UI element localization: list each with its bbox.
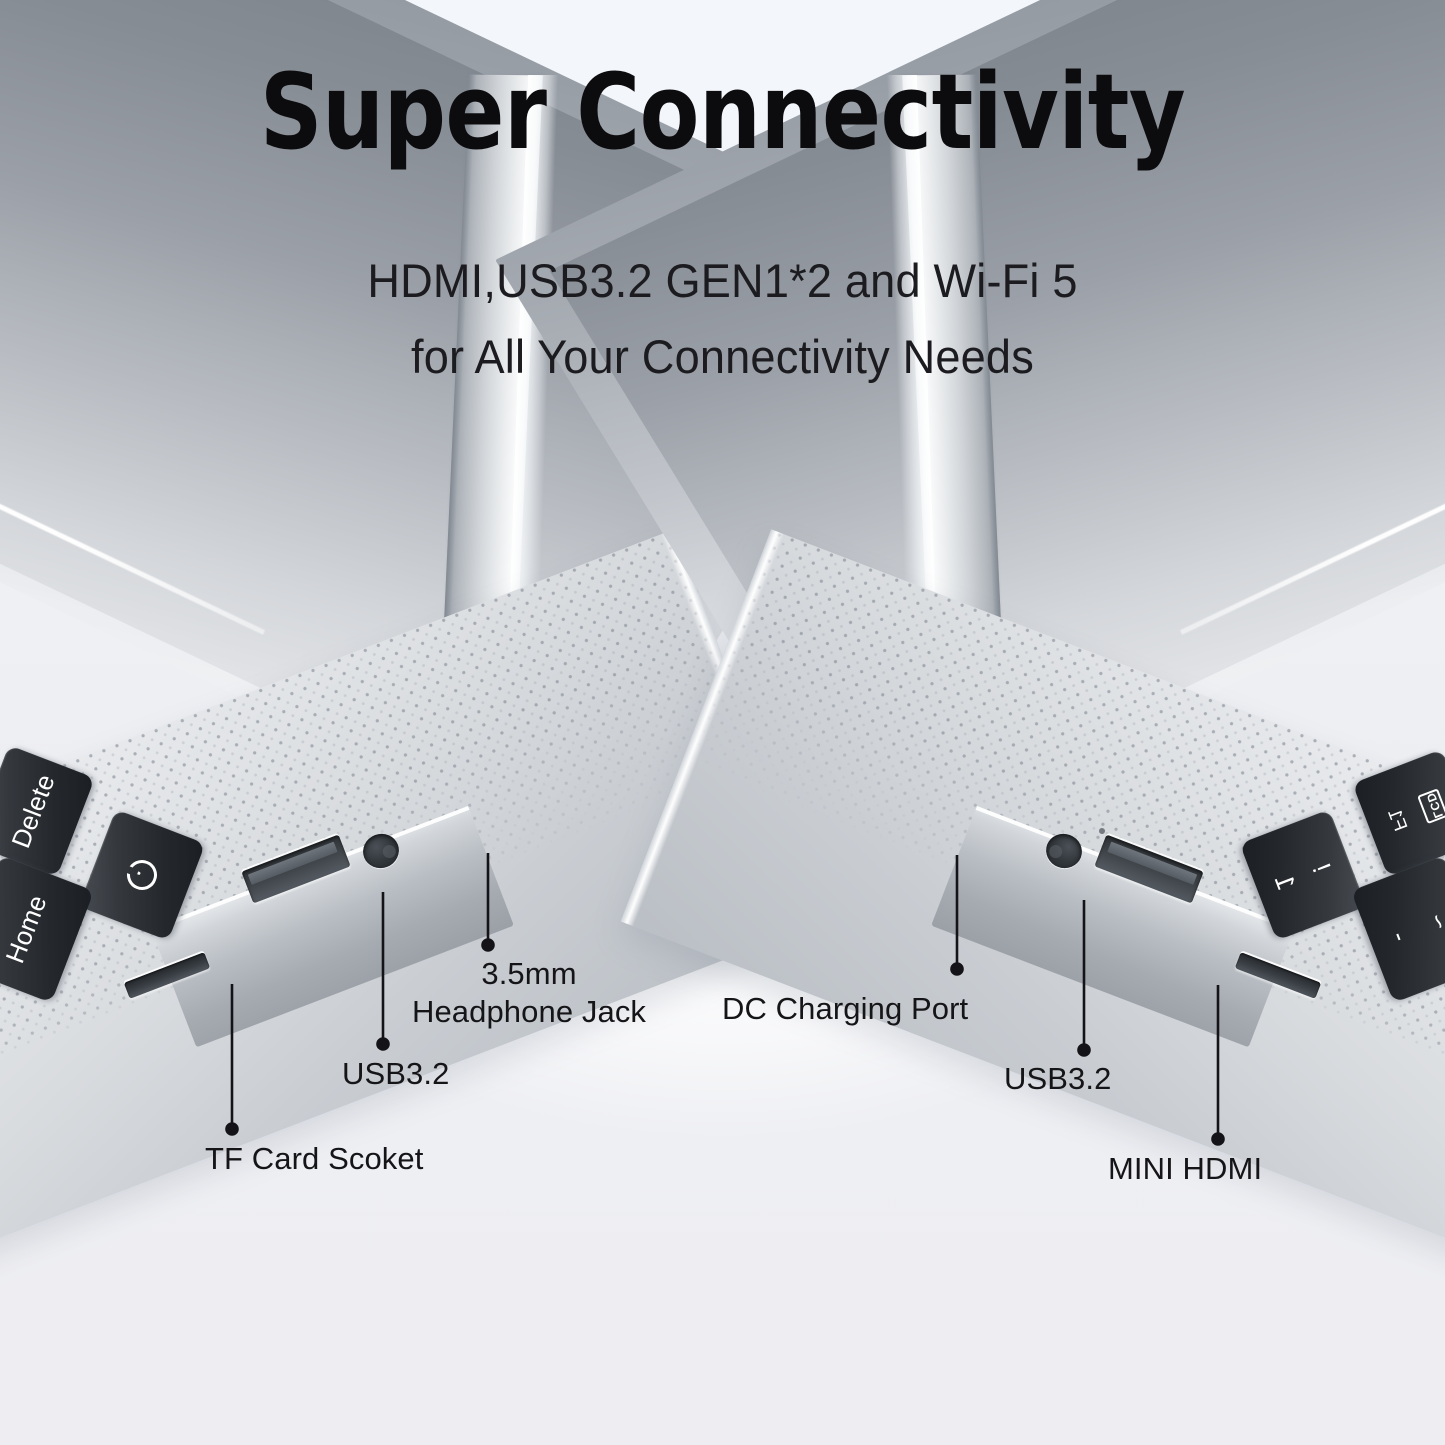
callout-usb32-right[interactable]: USB3.2 bbox=[1004, 1060, 1111, 1098]
subtitle-line-1: HDMI,USB3.2 GEN1*2 and Wi-Fi 5 bbox=[29, 243, 1416, 319]
callout-mini-hdmi[interactable]: MINI HDMI bbox=[1108, 1150, 1262, 1188]
product-hero-image: PrtSc F12 Delete Backspace Home End bbox=[0, 0, 1445, 1445]
page-title: Super Connectivity bbox=[51, 58, 1395, 166]
page-subtitle: HDMI,USB3.2 GEN1*2 and Wi-Fi 5 for All Y… bbox=[29, 243, 1416, 395]
callout-headphone-jack[interactable]: 3.5mm Headphone Jack bbox=[409, 955, 649, 1032]
callout-usb32-left[interactable]: USB3.2 bbox=[342, 1055, 449, 1093]
subtitle-line-2: for All Your Connectivity Needs bbox=[29, 319, 1416, 395]
callout-dc-charging-port[interactable]: DC Charging Port bbox=[722, 990, 968, 1028]
callout-tf-card-socket[interactable]: TF Card Scoket bbox=[205, 1140, 423, 1178]
